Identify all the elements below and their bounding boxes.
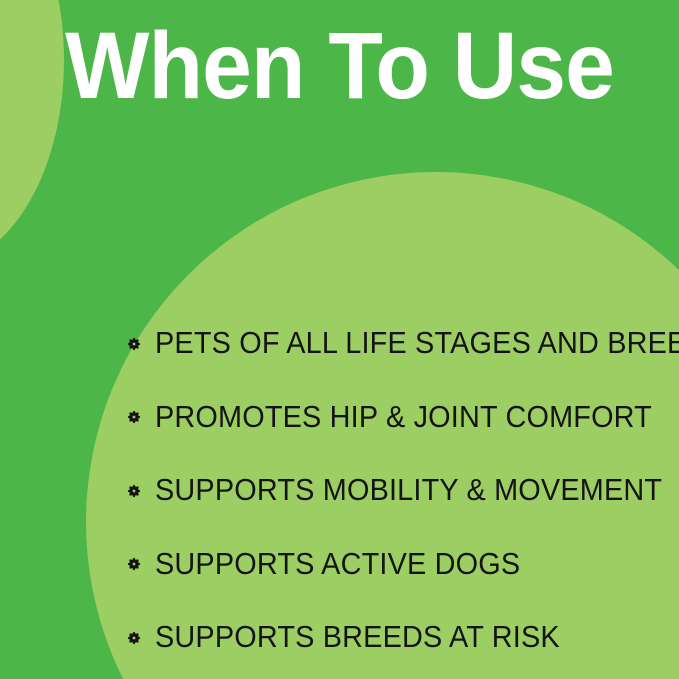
list-item-label: SUPPORTS ACTIVE DOGS [155,548,520,579]
asterisk-flower-icon [124,407,144,427]
list-item: PETS OF ALL LIFE STAGES AND BREEDS [124,306,659,380]
asterisk-flower-icon [124,334,144,354]
list-item: PROMOTES HIP & JOINT COMFORT [124,380,659,454]
list-item-label: SUPPORTS MOBILITY & MOVEMENT [155,474,662,505]
list-item-label: PROMOTES HIP & JOINT COMFORT [155,401,652,432]
when-to-use-panel: When To Use PETS OF ALL LIFE STAGES AND … [0,0,679,679]
asterisk-flower-icon [124,481,144,501]
list-item: SUPPORTS BREEDS AT RISK [124,600,659,674]
list-item: SUPPORTS ACTIVE DOGS [124,527,659,601]
asterisk-flower-icon [124,554,144,574]
asterisk-flower-icon [124,628,144,648]
page-title: When To Use [20,17,658,117]
list-item-label: PETS OF ALL LIFE STAGES AND BREEDS [155,327,679,358]
list-item: SUPPORTS MOBILITY & MOVEMENT [124,453,659,527]
list-item-label: SUPPORTS BREEDS AT RISK [155,621,560,652]
benefits-list: PETS OF ALL LIFE STAGES AND BREEDS PROMO… [124,306,659,674]
